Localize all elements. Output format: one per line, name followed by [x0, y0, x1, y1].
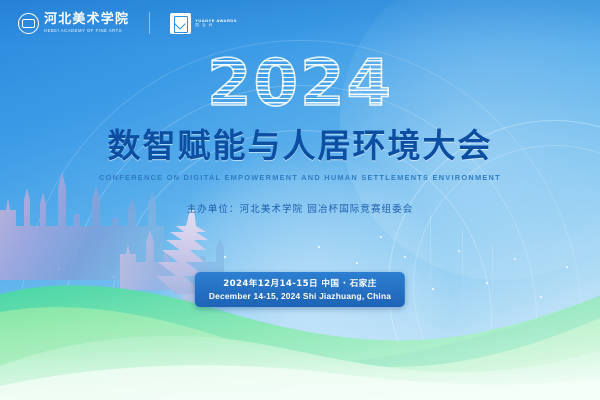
yuanye-name-cn: 园 冶 杯: [195, 23, 237, 27]
logo-yuanye-awards[interactable]: YUANYE AWARDS 园 冶 杯: [170, 13, 237, 34]
year-text: 2024: [207, 52, 393, 116]
date-badge: 2024年12月14-15日 中国 · 石家庄 December 14-15, …: [195, 272, 405, 307]
conference-poster: 河北美术学院 HEBEI ACADEMY OF FINE ARTS YUANYE…: [0, 0, 600, 400]
seal-emblem-icon: [18, 13, 39, 34]
header-logos: 河北美术学院 HEBEI ACADEMY OF FINE ARTS YUANYE…: [18, 12, 237, 34]
academy-name-cn: 河北美术学院: [44, 13, 129, 26]
logo-hebei-academy[interactable]: 河北美术学院 HEBEI ACADEMY OF FINE ARTS: [18, 13, 129, 34]
yuanye-cup-mark-icon: [170, 13, 191, 34]
page-title: 数智赋能与人居环境大会: [0, 127, 600, 165]
academy-name-en: HEBEI ACADEMY OF FINE ARTS: [44, 29, 129, 33]
date-text-en: December 14-15, 2024 Shi Jiazhuang, Chin…: [209, 291, 391, 301]
page-subtitle: CONFERENCE ON DIGITAL EMPOWERMENT AND HU…: [0, 173, 600, 182]
logo-divider: [149, 12, 150, 34]
year-headline: 2024: [0, 52, 600, 116]
title-block: 数智赋能与人居环境大会 CONFERENCE ON DIGITAL EMPOWE…: [0, 127, 600, 215]
organizer-line: 主办单位：河北美术学院 园冶杯国际竞赛组委会: [0, 201, 600, 215]
date-text-cn: 2024年12月14-15日 中国 · 石家庄: [209, 277, 391, 289]
